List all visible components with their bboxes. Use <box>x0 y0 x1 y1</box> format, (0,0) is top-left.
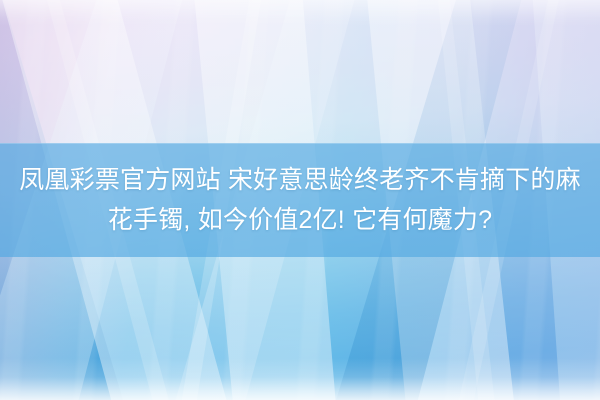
banner-image: 凤凰彩票官方网站 宋好意思龄终老齐不肯摘下的麻 花手镯, 如今价值2亿! 它有何… <box>0 0 600 400</box>
band-divider <box>0 143 600 144</box>
headline-line-1: 凤凰彩票官方网站 宋好意思龄终老齐不肯摘下的麻 <box>19 160 581 200</box>
top-haze <box>0 0 600 26</box>
bottom-glow-fade <box>0 358 600 400</box>
headline-line-2: 花手镯, 如今价值2亿! 它有何魔力? <box>108 200 492 240</box>
headline-banner-band: 凤凰彩票官方网站 宋好意思龄终老齐不肯摘下的麻 花手镯, 如今价值2亿! 它有何… <box>0 143 600 257</box>
